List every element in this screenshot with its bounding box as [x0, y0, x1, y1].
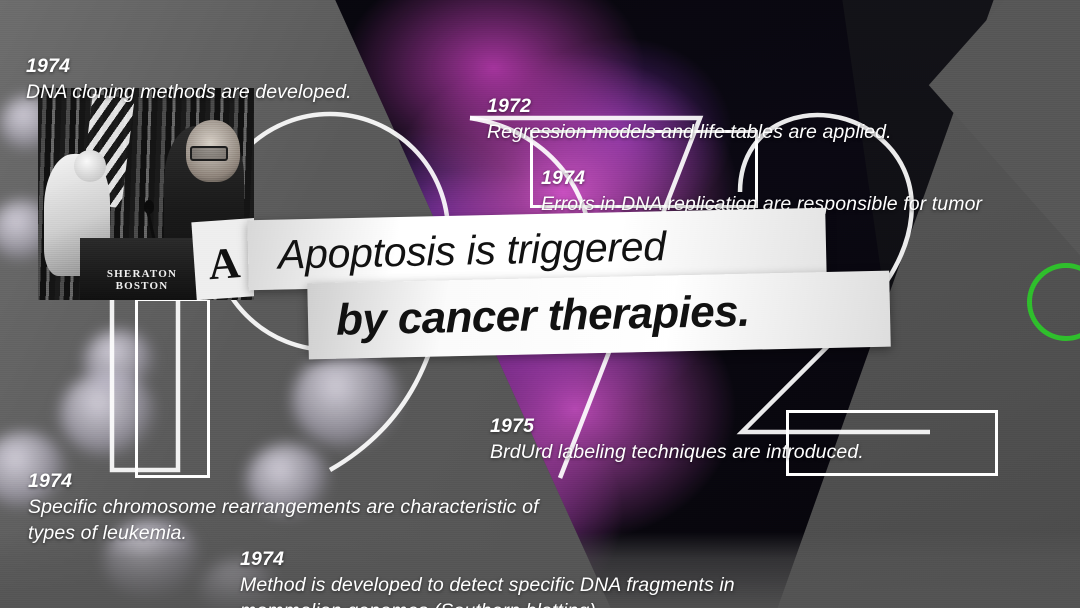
timeline-entry: 1972 Regression models and life tables a… [487, 68, 892, 146]
timeline-year: 1972 [487, 95, 531, 117]
timeline-entry: 1974 Method is developed to detect speci… [240, 521, 840, 608]
photo-grain-overlay [38, 88, 254, 300]
timeline-text: Method is developed to detect specific D… [240, 574, 735, 608]
timeline-year: 1974 [240, 548, 284, 570]
timeline-entry: 1974 DNA cloning methods are developed. [26, 28, 352, 106]
timeline-year: 1974 [28, 470, 72, 492]
timeline-text: DNA cloning methods are developed. [26, 81, 352, 103]
timeline-year: 1974 [26, 55, 70, 77]
timeline-year: 1974 [541, 167, 585, 189]
slide-canvas: SHERATON BOSTON A 1974 DNA cloning metho… [0, 0, 1080, 608]
headline-block: Apoptosis is triggered by cancer therapi… [248, 214, 888, 362]
historic-photo: SHERATON BOSTON A [38, 88, 254, 300]
headline-line-1: Apoptosis is triggered [278, 223, 667, 278]
headline-line-2: by cancer therapies. [336, 287, 751, 346]
headline-band-2: by cancer therapies. [307, 271, 891, 360]
timeline-year: 1975 [490, 415, 534, 437]
